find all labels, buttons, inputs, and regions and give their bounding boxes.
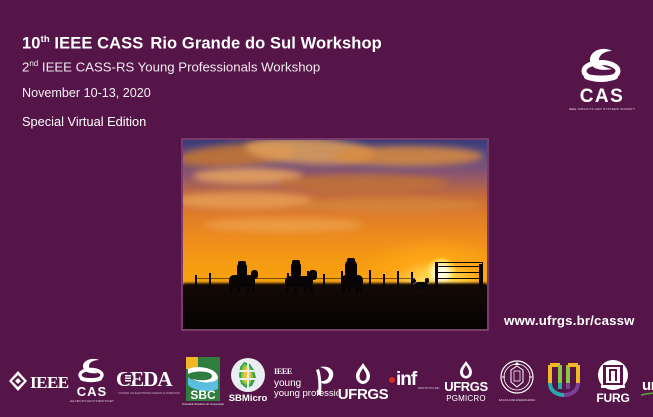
subtitle: 2nd IEEE CASS-RS Young Professionals Wor… <box>22 59 382 75</box>
sponsor-sub-engenharia: ESCOLA DE ENGENHARIA <box>499 398 535 402</box>
sponsor-logo-unipampa[interactable]: unipampa <box>638 355 653 407</box>
sponsor-logo-ieee[interactable]: IEEE <box>8 355 70 407</box>
sponsor-logo-furg[interactable]: FURG <box>588 355 638 407</box>
ieee-diamond-icon <box>9 371 27 391</box>
sponsor-logo-ieee-young-professionals[interactable]: IEEE young young professionals <box>272 355 338 407</box>
sponsor-logo-sbmicro[interactable]: SBMicro <box>224 355 272 407</box>
conference-poster: 10th IEEE CASSRio Grande do Sul Workshop… <box>0 0 653 417</box>
sponsor-label-ieee-yp: young professionals <box>274 388 338 399</box>
ground-silhouette <box>183 285 487 329</box>
sponsor-logo-ufrgs[interactable]: UFRGS <box>338 355 388 407</box>
event-dates: November 10-13, 2020 <box>22 86 382 100</box>
cas-society-logo: CAS IEEE CIRCUITS AND SYSTEMS SOCIETY <box>568 38 636 116</box>
title-ordinal-number: 10 <box>22 35 41 53</box>
sponsor-label-sbc: SBC <box>190 388 216 402</box>
sponsor-logo-bar: IEEE CAS IEEE CIRCUITS AND SYSTEMS SOCIE… <box>0 345 653 417</box>
sponsor-logo-cas[interactable]: CAS IEEE CIRCUITS AND SYSTEMS SOCIETY <box>70 355 114 407</box>
title-ordinal-suffix: th <box>41 34 50 45</box>
sponsor-logo-sbc[interactable]: SBC Sociedade Brasileira de Computação <box>182 355 224 407</box>
sponsor-sub-inf: INSTITUTO DE INFORMÁTICA UFRGS <box>418 386 440 390</box>
cas-logo-text: CAS <box>580 86 625 107</box>
page-title: 10th IEEE CASSRio Grande do Sul Workshop <box>22 34 382 54</box>
sponsor-logo-escola-engenharia[interactable]: ESCOLA DE ENGENHARIA <box>492 355 542 407</box>
furg-book-icon <box>598 360 628 390</box>
cas-swirl-icon <box>80 359 102 382</box>
ufrgs-flame-icon <box>356 363 370 384</box>
title-event: Rio Grande do Sul Workshop <box>150 35 381 53</box>
sponsor-label-sbmicro: SBMicro <box>229 393 268 404</box>
sponsor-sub-pgmicro: PGMICRO <box>446 394 486 403</box>
sponsor-label-pgmicro-ufrgs: UFRGS <box>444 379 488 394</box>
sponsor-label-cas: CAS <box>77 384 107 399</box>
cas-logo-mark: CAS IEEE CIRCUITS AND SYSTEMS SOCIETY <box>568 38 636 116</box>
title-org: IEEE CASS <box>54 35 143 53</box>
sponsor-sub-sbc: Sociedade Brasileira de Computação <box>182 402 224 406</box>
sunset-photo <box>181 138 489 331</box>
sponsor-label-unipampa: unipampa <box>642 377 653 394</box>
dog-silhouette <box>415 282 428 289</box>
sponsor-label-ufrgs: UFRGS <box>338 386 388 403</box>
sponsor-label-furg: FURG <box>596 391 629 405</box>
header-text-block: 10th IEEE CASSRio Grande do Sul Workshop… <box>22 34 382 129</box>
ucs-geometric-icon <box>550 365 578 395</box>
sponsor-sub-ieee-yp: IEEE <box>274 367 292 376</box>
sponsor-label-ieee: IEEE <box>30 373 69 392</box>
website-url[interactable]: www.ufrgs.br/cassw <box>504 313 635 328</box>
subtitle-ordinal-suffix: nd <box>29 59 38 68</box>
sponsor-label-inf: inf <box>396 369 418 390</box>
sponsor-logo-inf[interactable]: inf INSTITUTO DE INFORMÁTICA UFRGS <box>388 355 440 407</box>
cas-logo-tagline: IEEE CIRCUITS AND SYSTEMS SOCIETY <box>569 107 635 111</box>
engineering-school-crest-icon <box>501 361 533 393</box>
ufrgs-flame-icon <box>460 361 472 379</box>
sponsor-logo-ucs[interactable] <box>542 355 588 407</box>
sponsor-logo-ceda[interactable]: CEDA COUNCIL ON ELECTRONIC DESIGN AUTOMA… <box>114 355 182 407</box>
sponsor-logo-pgmicro[interactable]: UFRGS PGMICRO <box>440 355 492 407</box>
sponsor-sub-ceda: COUNCIL ON ELECTRONIC DESIGN AUTOMATION <box>118 391 180 395</box>
sponsor-sub-cas: IEEE CIRCUITS AND SYSTEMS SOCIETY <box>70 400 114 403</box>
inf-red-dot-icon <box>389 377 395 383</box>
event-edition: Special Virtual Edition <box>22 114 382 129</box>
subtitle-text: IEEE CASS-RS Young Professionals Worksho… <box>42 60 320 75</box>
